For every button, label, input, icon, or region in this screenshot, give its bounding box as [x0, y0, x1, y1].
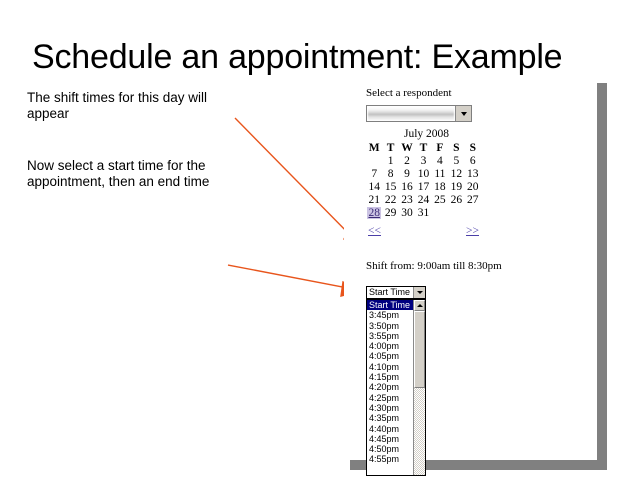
time-option[interactable]: 4:10pm — [367, 362, 413, 372]
start-time-select[interactable]: Start Time — [366, 286, 426, 299]
calendar-day-cell[interactable]: 17 — [415, 180, 431, 193]
calendar-day-cell[interactable]: 26 — [448, 193, 464, 206]
time-option[interactable]: 4:40pm — [367, 424, 413, 434]
chevron-up-icon[interactable] — [414, 300, 425, 311]
annotation-shift-times: The shift times for this day will appear — [27, 90, 242, 122]
calendar-grid: MTWTFSS 12345678910111213141516171819202… — [366, 141, 481, 219]
time-option[interactable]: 4:25pm — [367, 393, 413, 403]
calendar-day-cell[interactable]: 19 — [448, 180, 464, 193]
start-time-option-list[interactable]: Start Time3:45pm3:50pm3:55pm4:00pm4:05pm… — [366, 299, 426, 476]
scrollbar-thumb[interactable] — [414, 311, 425, 388]
calendar-day-cell[interactable]: 15 — [382, 180, 398, 193]
calendar-day-11[interactable]: 11 — [434, 168, 445, 180]
calendar-empty-cell — [432, 206, 448, 219]
calendar-day-cell[interactable]: 4 — [432, 154, 448, 167]
calendar-day-cell[interactable]: 22 — [382, 193, 398, 206]
calendar-week-row: 14151617181920 — [366, 180, 481, 193]
calendar-day-24[interactable]: 24 — [418, 194, 430, 206]
calendar-day-cell[interactable]: 21 — [366, 193, 382, 206]
time-option[interactable]: 3:55pm — [367, 331, 413, 341]
annotation-select-start-time: Now select a start time for the appointm… — [27, 158, 242, 190]
calendar-month-caption: July 2008 — [366, 128, 481, 141]
calendar-day-cell[interactable]: 23 — [399, 193, 415, 206]
calendar-day-9[interactable]: 9 — [404, 168, 410, 180]
calendar-prev-link[interactable]: << — [368, 225, 381, 237]
calendar-day-cell[interactable]: 16 — [399, 180, 415, 193]
calendar-week-row: 28293031 — [366, 206, 481, 219]
calendar-day-7[interactable]: 7 — [371, 168, 377, 180]
screenshot-shadow-right — [597, 83, 607, 470]
page-title: Schedule an appointment: Example — [32, 36, 562, 78]
calendar-day-29[interactable]: 29 — [385, 207, 397, 219]
respondent-selected-value — [368, 107, 454, 120]
calendar-header-row: MTWTFSS — [366, 141, 481, 154]
time-option[interactable]: 4:20pm — [367, 382, 413, 392]
calendar-day-14[interactable]: 14 — [368, 181, 380, 193]
calendar-day-cell[interactable]: 24 — [415, 193, 431, 206]
time-option[interactable]: 4:30pm — [367, 403, 413, 413]
calendar-day-21[interactable]: 21 — [368, 194, 380, 206]
respondent-select[interactable] — [366, 105, 472, 122]
calendar-week-row: 21222324252627 — [366, 193, 481, 206]
calendar-day-cell[interactable]: 1 — [382, 154, 398, 167]
calendar-day-cell[interactable]: 31 — [415, 206, 431, 219]
calendar-widget: July 2008 MTWTFSS 1234567891011121314151… — [366, 128, 481, 239]
calendar-day-10[interactable]: 10 — [418, 168, 430, 180]
calendar-day-cell[interactable]: 30 — [399, 206, 415, 219]
start-time-selected-value: Start Time — [367, 287, 413, 298]
listbox-scrollbar[interactable] — [413, 300, 425, 475]
calendar-day-12[interactable]: 12 — [451, 168, 463, 180]
calendar-day-16[interactable]: 16 — [401, 181, 413, 193]
calendar-day-5[interactable]: 5 — [453, 155, 459, 167]
calendar-weekday-5: S — [448, 141, 464, 154]
time-option[interactable]: 3:50pm — [367, 321, 413, 331]
calendar-day-3[interactable]: 3 — [421, 155, 427, 167]
calendar-day-cell[interactable]: 13 — [465, 167, 481, 180]
calendar-day-2[interactable]: 2 — [404, 155, 410, 167]
respondent-label: Select a respondent — [366, 87, 452, 99]
calendar-empty-cell — [448, 206, 464, 219]
calendar-day-cell[interactable]: 20 — [465, 180, 481, 193]
calendar-weekday-1: T — [382, 141, 398, 154]
time-option[interactable]: 4:35pm — [367, 413, 413, 423]
calendar-day-cell[interactable]: 2 — [399, 154, 415, 167]
calendar-day-23[interactable]: 23 — [401, 194, 413, 206]
calendar-next-link[interactable]: >> — [466, 225, 479, 237]
calendar-body: 1234567891011121314151617181920212223242… — [366, 154, 481, 219]
calendar-day-17[interactable]: 17 — [418, 181, 430, 193]
calendar-day-1[interactable]: 1 — [388, 155, 394, 167]
calendar-day-8[interactable]: 8 — [388, 168, 394, 180]
calendar-day-4[interactable]: 4 — [437, 155, 443, 167]
calendar-day-18[interactable]: 18 — [434, 181, 446, 193]
calendar-day-cell[interactable]: 5 — [448, 154, 464, 167]
calendar-day-15[interactable]: 15 — [385, 181, 397, 193]
calendar-weekday-6: S — [465, 141, 481, 154]
start-time-options[interactable]: Start Time3:45pm3:50pm3:55pm4:00pm4:05pm… — [367, 300, 413, 475]
web-page-panel: Select a respondent July 2008 MTWTFSS 12… — [344, 78, 597, 460]
calendar-day-25[interactable]: 25 — [434, 194, 446, 206]
calendar-day-cell[interactable]: 9 — [399, 167, 415, 180]
calendar-day-cell[interactable]: 29 — [382, 206, 398, 219]
calendar-weekday-3: T — [415, 141, 431, 154]
calendar-day-cell[interactable]: 25 — [432, 193, 448, 206]
calendar-day-cell[interactable]: 28 — [366, 206, 382, 219]
calendar-day-20[interactable]: 20 — [467, 181, 479, 193]
calendar-day-27[interactable]: 27 — [467, 194, 479, 206]
time-option[interactable]: 4:15pm — [367, 372, 413, 382]
time-option[interactable]: 4:45pm — [367, 434, 413, 444]
calendar-day-19[interactable]: 19 — [451, 181, 463, 193]
calendar-day-22[interactable]: 22 — [385, 194, 397, 206]
chevron-down-icon[interactable] — [413, 287, 425, 298]
calendar-day-cell[interactable]: 7 — [366, 167, 382, 180]
calendar-day-13[interactable]: 13 — [467, 168, 479, 180]
calendar-day-cell[interactable]: 10 — [415, 167, 431, 180]
time-option[interactable]: 3:45pm — [367, 310, 413, 320]
calendar-empty-cell — [366, 154, 382, 167]
calendar-day-28[interactable]: 28 — [367, 207, 381, 219]
time-option[interactable]: 4:50pm — [367, 444, 413, 454]
calendar-day-cell[interactable]: 6 — [465, 154, 481, 167]
calendar-day-cell[interactable]: 3 — [415, 154, 431, 167]
calendar-nav: << >> — [366, 225, 481, 239]
arrow-line-2 — [228, 265, 348, 288]
time-option[interactable]: 4:55pm — [367, 454, 413, 464]
calendar-day-cell[interactable]: 11 — [432, 167, 448, 180]
time-option[interactable]: 4:05pm — [367, 351, 413, 361]
shift-hours-text: Shift from: 9:00am till 8:30pm — [366, 260, 502, 272]
chevron-down-icon[interactable] — [455, 106, 471, 121]
calendar-week-row: 78910111213 — [366, 167, 481, 180]
calendar-day-6[interactable]: 6 — [470, 155, 476, 167]
calendar-day-cell[interactable]: 8 — [382, 167, 398, 180]
calendar-day-30[interactable]: 30 — [401, 207, 413, 219]
calendar-weekday-0: M — [366, 141, 382, 154]
calendar-day-31[interactable]: 31 — [418, 207, 430, 219]
calendar-day-26[interactable]: 26 — [451, 194, 463, 206]
time-option[interactable]: Start Time — [367, 300, 413, 310]
calendar-weekday-4: F — [432, 141, 448, 154]
calendar-day-cell[interactable]: 27 — [465, 193, 481, 206]
calendar-empty-cell — [465, 206, 481, 219]
calendar-weekday-2: W — [399, 141, 415, 154]
calendar-day-cell[interactable]: 14 — [366, 180, 382, 193]
time-option[interactable]: 4:00pm — [367, 341, 413, 351]
calendar-day-cell[interactable]: 12 — [448, 167, 464, 180]
calendar-day-cell[interactable]: 18 — [432, 180, 448, 193]
calendar-week-row: 123456 — [366, 154, 481, 167]
arrow-line-1 — [235, 118, 355, 240]
